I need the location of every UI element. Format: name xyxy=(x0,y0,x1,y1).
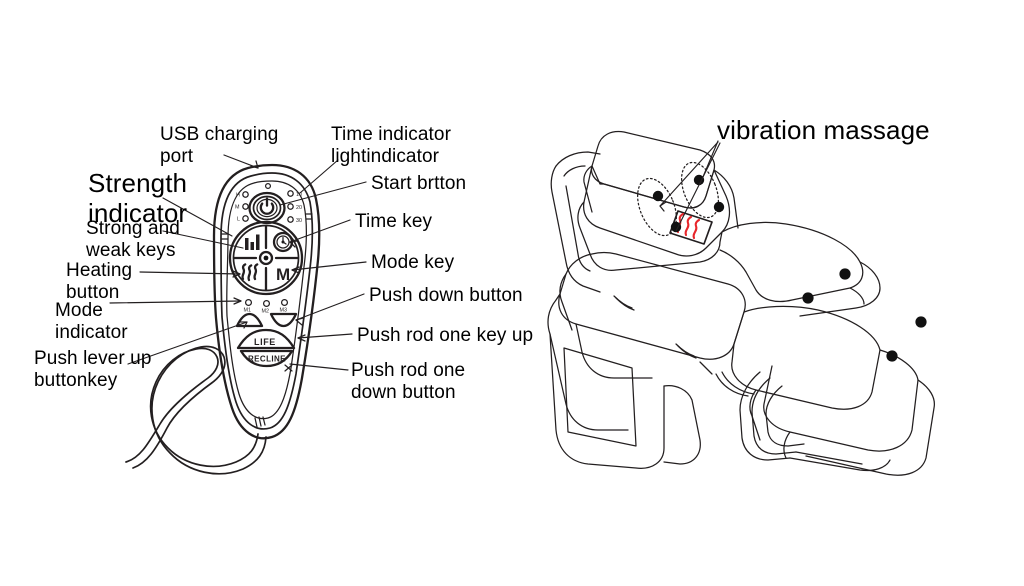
callout-mode-key: Mode key xyxy=(371,252,454,274)
mode-label-m3: M3 xyxy=(280,308,288,314)
vibration-point xyxy=(653,191,663,201)
callout-start-button: Start brtton xyxy=(371,173,466,195)
strength-indicator-leds: H M L xyxy=(235,192,248,223)
chair-left-armrest xyxy=(548,294,628,430)
triangle-down-icon xyxy=(271,314,296,326)
chair-right-armrest xyxy=(720,222,863,301)
mode-label-m1: M1 xyxy=(244,308,252,314)
leader-push-rod-one-down xyxy=(290,364,348,370)
chair-seat-cushion xyxy=(559,253,745,360)
leader-vibration-massage-1 xyxy=(660,142,718,206)
strength-label-h: H xyxy=(236,193,240,199)
leader-mode-key xyxy=(292,262,366,270)
bar-levels-icon xyxy=(245,235,260,251)
callout-strong-and-weak-keys: Strong andweak keys xyxy=(86,218,180,262)
time-label-30: 30 xyxy=(296,218,302,224)
vibration-point xyxy=(802,292,813,303)
callout-push-down-button: Push down button xyxy=(369,285,523,307)
vibration-point xyxy=(714,202,724,212)
callout-push-lever-up-buttonkey: Push lever upbuttonkey xyxy=(34,348,151,392)
four-way-pad: M xyxy=(230,222,302,294)
letter-m-icon: M xyxy=(276,265,290,284)
recliner-mechanism xyxy=(700,362,890,471)
callout-time-key: Time key xyxy=(355,211,432,233)
leader-push-rod-one-key-up xyxy=(298,334,352,338)
chair-backrest xyxy=(584,166,730,256)
recline-key: RECLINE xyxy=(241,351,292,366)
chair-left-wing xyxy=(551,166,600,292)
callout-vibration-massage: vibration massage xyxy=(717,115,930,145)
mode-label-m2: M2 xyxy=(262,309,270,315)
vibration-point xyxy=(886,350,897,361)
callout-usb-charging-port: USB chargingport xyxy=(160,124,278,168)
leader-vibration-massage-3 xyxy=(700,141,718,184)
lift-key-label: LIFE xyxy=(254,337,276,347)
callout-time-indicator-light: Time indicatorlightindicator xyxy=(331,124,451,168)
recline-key-label: RECLINE xyxy=(248,355,286,364)
callout-heating-button: Heatingbutton xyxy=(66,260,132,304)
time-label-20: 20 xyxy=(296,205,302,211)
clock-icon xyxy=(274,233,292,251)
callout-mode-indicator: Modeindicator xyxy=(55,300,128,344)
leader-heating-button xyxy=(140,272,240,274)
callout-push-rod-one-key-up: Push rod one key up xyxy=(357,325,533,347)
start-power-button xyxy=(250,193,285,223)
time-indicator-leds: 10 20 30 xyxy=(288,191,302,224)
vibration-point xyxy=(915,316,926,327)
top-status-led xyxy=(266,184,271,189)
strength-label-m: M xyxy=(235,205,240,211)
strength-label-l: L xyxy=(237,217,240,223)
vibration-point xyxy=(839,268,850,279)
mode-indicator-leds: M1 M2 M3 xyxy=(244,300,288,315)
recliner-chair-illustration xyxy=(548,132,934,476)
callout-push-rod-one-down-button: Push rod onedown button xyxy=(351,360,465,404)
diagram-canvas: H M L 10 20 30 xyxy=(0,0,1024,586)
heat-waves-icon xyxy=(242,264,257,280)
lift-key: LIFE xyxy=(238,330,294,348)
